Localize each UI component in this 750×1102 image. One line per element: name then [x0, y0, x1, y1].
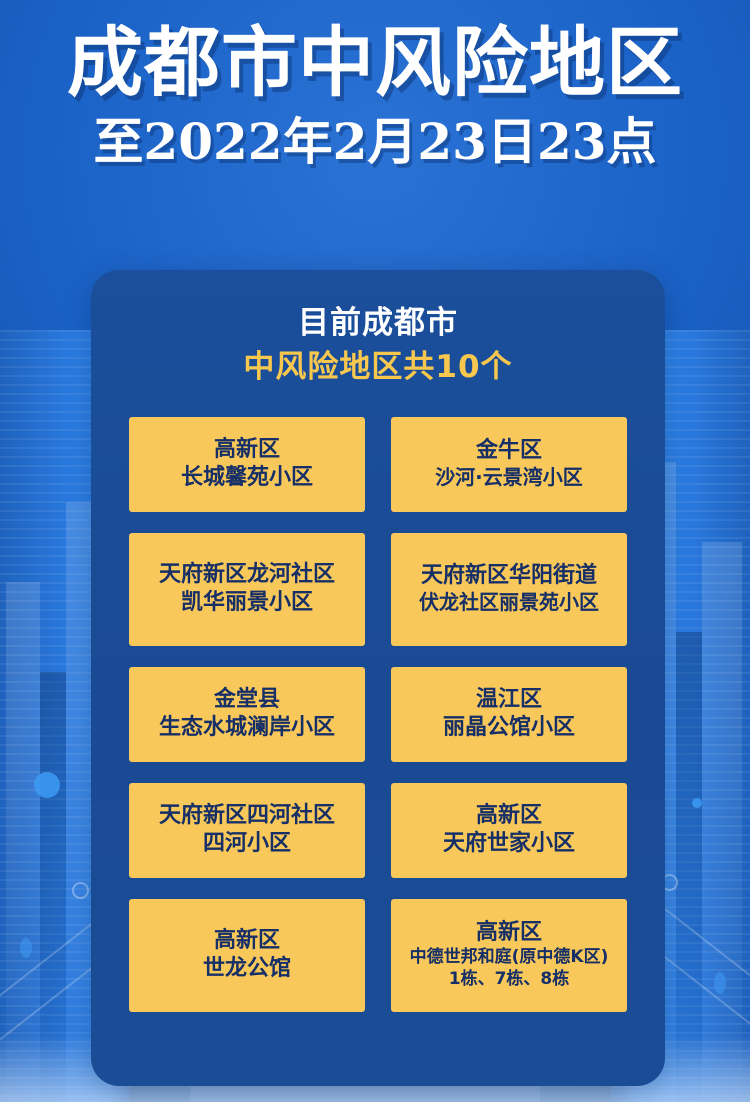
glow-dot	[20, 938, 32, 958]
risk-area-community: 凯华丽景小区	[181, 589, 313, 617]
risk-area-card[interactable]: 金牛区 沙河·云景湾小区	[391, 417, 627, 512]
risk-area-card[interactable]: 天府新区华阳街道 伏龙社区丽景苑小区	[391, 533, 627, 646]
risk-area-district: 金堂县	[214, 686, 280, 714]
risk-area-district: 高新区	[214, 927, 280, 955]
risk-area-district: 高新区	[214, 436, 280, 464]
glow-dot	[692, 798, 702, 808]
risk-area-community: 世龙公馆	[203, 955, 291, 983]
circuit-node	[72, 882, 89, 899]
risk-areas-panel: 目前成都市 中风险地区共10个 高新区 长城馨苑小区 金牛区 沙河·云景湾小区 …	[91, 270, 665, 1086]
page-title: 成都市中风险地区	[0, 0, 750, 104]
risk-area-district: 天府新区龙河社区	[159, 561, 335, 589]
skyline-building	[702, 542, 742, 1102]
risk-area-card[interactable]: 金堂县 生态水城澜岸小区	[129, 667, 365, 762]
risk-area-buildings: 1栋、7栋、8栋	[449, 969, 570, 991]
risk-area-district: 天府新区华阳街道	[421, 562, 597, 590]
page-subtitle: 至2022年2月23日23点	[0, 114, 750, 169]
risk-area-district: 高新区	[476, 919, 542, 947]
poster-header: 成都市中风险地区 至2022年2月23日23点	[0, 0, 750, 169]
risk-area-community: 沙河·云景湾小区	[435, 465, 583, 491]
risk-area-district: 高新区	[476, 802, 542, 830]
risk-area-card[interactable]: 温江区 丽晶公馆小区	[391, 667, 627, 762]
panel-heading-line1: 目前成都市	[91, 304, 665, 343]
risk-area-district: 天府新区四河社区	[159, 802, 335, 830]
panel-heading-line2: 中风险地区共10个	[91, 347, 665, 389]
risk-area-community: 天府世家小区	[443, 830, 575, 858]
risk-area-community: 四河小区	[203, 830, 291, 858]
risk-area-card[interactable]: 天府新区四河社区 四河小区	[129, 783, 365, 878]
risk-area-community: 长城馨苑小区	[181, 464, 313, 492]
panel-heading: 目前成都市 中风险地区共10个	[91, 270, 665, 389]
risk-area-card[interactable]: 高新区 世龙公馆	[129, 899, 365, 1012]
risk-area-card[interactable]: 高新区 天府世家小区	[391, 783, 627, 878]
risk-area-district: 温江区	[476, 686, 542, 714]
skyline-building	[6, 582, 40, 1102]
risk-area-card[interactable]: 天府新区龙河社区 凯华丽景小区	[129, 533, 365, 646]
skyline-building	[676, 632, 702, 1102]
glow-dot	[34, 772, 60, 798]
risk-area-community: 生态水城澜岸小区	[159, 714, 335, 742]
poster-root: 成都市中风险地区 至2022年2月23日23点 目前成都市 中风险地区共10个 …	[0, 0, 750, 1102]
risk-area-district: 金牛区	[476, 437, 542, 465]
risk-area-card[interactable]: 高新区 长城馨苑小区	[129, 417, 365, 512]
glow-dot	[714, 972, 726, 994]
risk-area-card[interactable]: 高新区 中德世邦和庭(原中德K区) 1栋、7栋、8栋	[391, 899, 627, 1012]
risk-area-grid: 高新区 长城馨苑小区 金牛区 沙河·云景湾小区 天府新区龙河社区 凯华丽景小区 …	[129, 417, 627, 1012]
risk-area-community: 伏龙社区丽景苑小区	[419, 590, 599, 616]
risk-area-community: 丽晶公馆小区	[443, 714, 575, 742]
risk-area-community: 中德世邦和庭(原中德K区)	[410, 947, 609, 969]
